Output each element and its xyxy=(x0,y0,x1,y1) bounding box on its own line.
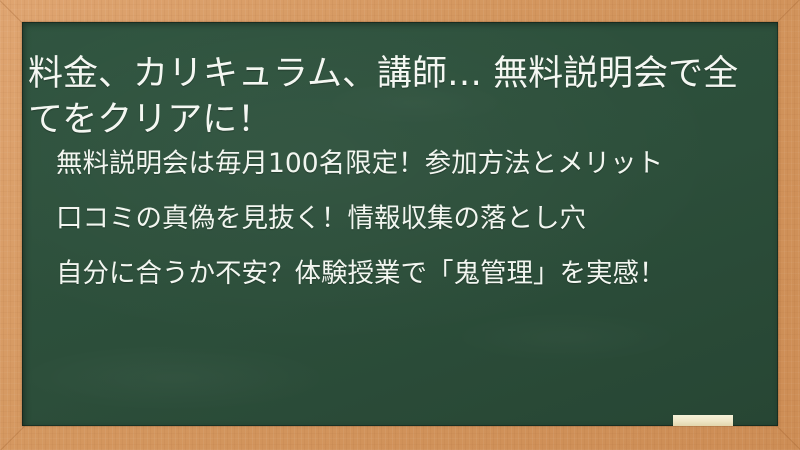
slide-headline: 料金、カリキュラム、講師… 無料説明会で全てをクリアに！ xyxy=(28,51,746,143)
chalkboard-slide: 料金、カリキュラム、講師… 無料説明会で全てをクリアに！ 無料説明会は毎月100… xyxy=(0,0,800,450)
slide-content: 料金、カリキュラム、講師… 無料説明会で全てをクリアに！ 無料説明会は毎月100… xyxy=(22,22,778,426)
topic-list: 無料説明会は毎月100名限定！参加方法とメリット 口コミの真偽を見抜く！情報収集… xyxy=(56,144,756,293)
chalkboard-surface: 料金、カリキュラム、講師… 無料説明会で全てをクリアに！ 無料説明会は毎月100… xyxy=(22,22,778,426)
frame-miter-top-left xyxy=(0,0,24,25)
topic-list-item: 口コミの真偽を見抜く！情報収集の落とし穴 xyxy=(56,199,756,238)
chalk-stick-icon xyxy=(673,415,733,426)
frame-miter-bottom-right xyxy=(776,425,800,450)
topic-list-item: 自分に合うか不安？体験授業で「鬼管理」を実感！ xyxy=(56,254,756,293)
topic-list-item: 無料説明会は毎月100名限定！参加方法とメリット xyxy=(56,144,756,183)
frame-miter-bottom-left xyxy=(0,426,25,450)
frame-miter-top-right xyxy=(775,0,800,24)
